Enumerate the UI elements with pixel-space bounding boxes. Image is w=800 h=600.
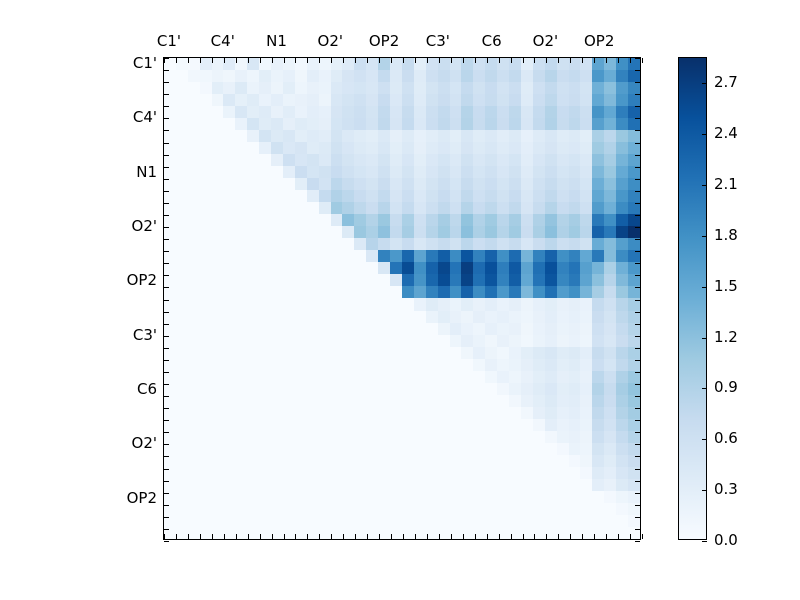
- heatmap-cell: [509, 190, 521, 202]
- heatmap-cell: [438, 479, 450, 491]
- heatmap-cell: [319, 359, 331, 371]
- heatmap-cell: [307, 226, 319, 238]
- heatmap-cell: [378, 323, 390, 335]
- heatmap-cell: [521, 70, 533, 82]
- heatmap-cell: [259, 503, 271, 515]
- heatmap-cell: [366, 190, 378, 202]
- heatmap-cell: [259, 419, 271, 431]
- heatmap-cell: [342, 515, 354, 527]
- heatmap-cell: [628, 190, 640, 202]
- heatmap-cell: [473, 503, 485, 515]
- heatmap-cell: [259, 491, 271, 503]
- y-tick-mark: [635, 360, 640, 361]
- heatmap-cell: [307, 238, 319, 250]
- heatmap-cell: [557, 479, 569, 491]
- y-tick-mark: [164, 493, 169, 494]
- heatmap-cell: [366, 335, 378, 347]
- heatmap-cell: [592, 479, 604, 491]
- heatmap-cell: [223, 455, 235, 467]
- heatmap-cell: [259, 274, 271, 286]
- heatmap-cell: [164, 250, 176, 262]
- heatmap-cell: [426, 82, 438, 94]
- heatmap-cell: [569, 286, 581, 298]
- heatmap-cell: [426, 178, 438, 190]
- heatmap-cell: [604, 323, 616, 335]
- heatmap-cell: [247, 395, 259, 407]
- heatmap-cell: [497, 419, 509, 431]
- heatmap-cell: [390, 467, 402, 479]
- heatmap-cell: [342, 467, 354, 479]
- heatmap-cell: [604, 214, 616, 226]
- heatmap-cell: [402, 118, 414, 130]
- heatmap-cell: [212, 190, 224, 202]
- heatmap-cell: [390, 515, 402, 527]
- heatmap-cell: [342, 359, 354, 371]
- y-tick-mark: [164, 300, 169, 301]
- heatmap-cell: [271, 226, 283, 238]
- heatmap-cell: [616, 455, 628, 467]
- heatmap-cell: [426, 94, 438, 106]
- y-tick-mark: [164, 336, 169, 337]
- heatmap-cell: [497, 274, 509, 286]
- heatmap-cell: [342, 503, 354, 515]
- heatmap-cell: [557, 142, 569, 154]
- heatmap-cell: [521, 154, 533, 166]
- heatmap-cell: [616, 238, 628, 250]
- heatmap-cell: [438, 503, 450, 515]
- heatmap-cell: [378, 335, 390, 347]
- heatmap-cell: [545, 443, 557, 455]
- heatmap-cell: [545, 286, 557, 298]
- heatmap-cell: [545, 178, 557, 190]
- heatmap-cell: [414, 238, 426, 250]
- heatmap-cell: [450, 431, 462, 443]
- heatmap-cell: [450, 118, 462, 130]
- heatmap-cell: [557, 94, 569, 106]
- heatmap-cell: [569, 190, 581, 202]
- heatmap-cell: [616, 274, 628, 286]
- heatmap-cell: [569, 94, 581, 106]
- heatmap-cell: [271, 118, 283, 130]
- heatmap-cell: [354, 142, 366, 154]
- heatmap-cell: [390, 226, 402, 238]
- heatmap-cell: [378, 214, 390, 226]
- heatmap-cell: [473, 298, 485, 310]
- y-tick-mark: [164, 167, 169, 168]
- heatmap-cell: [271, 455, 283, 467]
- heatmap-cell: [426, 407, 438, 419]
- heatmap-cell: [342, 491, 354, 503]
- colorbar-tick-mark: [702, 541, 707, 542]
- heatmap-cell: [235, 166, 247, 178]
- y-tick-label: O2': [132, 217, 157, 235]
- heatmap-cell: [592, 178, 604, 190]
- heatmap-cell: [509, 166, 521, 178]
- heatmap-cell: [426, 130, 438, 142]
- heatmap-cell: [569, 178, 581, 190]
- heatmap-cell: [354, 419, 366, 431]
- heatmap-cell: [259, 166, 271, 178]
- heatmap-cell: [259, 298, 271, 310]
- x-tick-mark: [248, 58, 249, 63]
- heatmap-cell: [247, 515, 259, 527]
- heatmap-cell: [616, 190, 628, 202]
- heatmap-cell: [331, 118, 343, 130]
- x-tick-mark: [224, 534, 225, 539]
- heatmap-cell: [569, 238, 581, 250]
- heatmap-cell: [616, 250, 628, 262]
- heatmap-cell: [628, 94, 640, 106]
- y-tick-mark: [164, 517, 169, 518]
- heatmap-cell: [521, 274, 533, 286]
- heatmap-cell: [295, 311, 307, 323]
- heatmap-cell: [604, 190, 616, 202]
- heatmap-cell: [414, 359, 426, 371]
- heatmap-cell: [331, 431, 343, 443]
- heatmap-cell: [331, 323, 343, 335]
- heatmap-cell: [497, 395, 509, 407]
- heatmap-cell: [235, 142, 247, 154]
- heatmap-cell: [497, 455, 509, 467]
- heatmap-cell: [485, 298, 497, 310]
- x-tick-mark: [295, 58, 296, 63]
- heatmap-cell: [450, 274, 462, 286]
- heatmap-cell: [450, 491, 462, 503]
- y-tick-mark: [635, 336, 640, 337]
- heatmap-cell: [461, 82, 473, 94]
- heatmap-cell: [485, 94, 497, 106]
- heatmap-cell: [569, 82, 581, 94]
- heatmap-cell: [295, 178, 307, 190]
- heatmap-cell: [402, 214, 414, 226]
- heatmap-cell: [557, 214, 569, 226]
- heatmap-cell: [366, 118, 378, 130]
- y-tick-label: OP2: [127, 271, 157, 289]
- heatmap-cell: [521, 82, 533, 94]
- heatmap-cell: [545, 298, 557, 310]
- y-tick-mark: [635, 287, 640, 288]
- heatmap-cell: [533, 431, 545, 443]
- heatmap-cell: [331, 395, 343, 407]
- heatmap-cell: [223, 467, 235, 479]
- heatmap-cell: [509, 118, 521, 130]
- heatmap-cell: [223, 286, 235, 298]
- heatmap-cell: [235, 118, 247, 130]
- heatmap-cell: [557, 503, 569, 515]
- heatmap-cell: [545, 311, 557, 323]
- heatmap-cell: [390, 94, 402, 106]
- heatmap-cell: [592, 298, 604, 310]
- heatmap-cell: [354, 491, 366, 503]
- heatmap-cell: [271, 262, 283, 274]
- heatmap-cell: [426, 515, 438, 527]
- heatmap-cell: [450, 395, 462, 407]
- heatmap-cell: [188, 359, 200, 371]
- heatmap-cell: [378, 70, 390, 82]
- heatmap-cell: [235, 311, 247, 323]
- heatmap-cell: [545, 130, 557, 142]
- x-tick-mark: [415, 58, 416, 63]
- heatmap-cell: [378, 455, 390, 467]
- heatmap-cell: [319, 443, 331, 455]
- heatmap-cell: [212, 94, 224, 106]
- heatmap-cell: [235, 58, 247, 70]
- heatmap-cell: [461, 166, 473, 178]
- heatmap-cell: [461, 479, 473, 491]
- heatmap-cell: [533, 190, 545, 202]
- heatmap-cell: [533, 202, 545, 214]
- heatmap-cell: [426, 467, 438, 479]
- heatmap-cell: [580, 431, 592, 443]
- heatmap-cell: [497, 491, 509, 503]
- heatmap-cell: [473, 491, 485, 503]
- heatmap-cell: [485, 311, 497, 323]
- heatmap-cell: [426, 395, 438, 407]
- heatmap-cell: [497, 238, 509, 250]
- heatmap-cell: [497, 359, 509, 371]
- heatmap-cell: [342, 238, 354, 250]
- heatmap-cell: [450, 323, 462, 335]
- heatmap-cell: [223, 166, 235, 178]
- heatmap-cell: [247, 503, 259, 515]
- x-tick-mark: [463, 534, 464, 539]
- heatmap-cell: [569, 311, 581, 323]
- y-tick-mark: [635, 420, 640, 421]
- heatmap-cell: [223, 419, 235, 431]
- heatmap-cell: [235, 190, 247, 202]
- colorbar-tick-label: 0.3: [714, 480, 738, 498]
- heatmap-cell: [354, 178, 366, 190]
- heatmap-cell: [342, 214, 354, 226]
- heatmap-cell: [461, 178, 473, 190]
- heatmap-cell: [414, 347, 426, 359]
- heatmap-cell: [628, 166, 640, 178]
- x-tick-mark: [260, 58, 261, 63]
- heatmap-cell: [545, 503, 557, 515]
- heatmap-cell: [414, 190, 426, 202]
- heatmap-cell: [176, 106, 188, 118]
- heatmap-cell: [580, 335, 592, 347]
- heatmap-cell: [354, 238, 366, 250]
- heatmap-cell: [247, 479, 259, 491]
- heatmap-cell: [378, 202, 390, 214]
- heatmap-cell: [212, 419, 224, 431]
- heatmap-cell: [545, 82, 557, 94]
- heatmap-cell: [200, 371, 212, 383]
- heatmap-cell: [521, 166, 533, 178]
- heatmap-cell: [331, 250, 343, 262]
- heatmap-cell: [200, 311, 212, 323]
- heatmap-cell: [331, 359, 343, 371]
- heatmap-cell: [616, 491, 628, 503]
- heatmap-cell: [473, 70, 485, 82]
- heatmap-cell: [616, 347, 628, 359]
- heatmap-cell: [342, 383, 354, 395]
- heatmap-cell: [402, 274, 414, 286]
- y-tick-mark: [164, 287, 169, 288]
- heatmap-cell: [414, 467, 426, 479]
- heatmap-cell: [497, 298, 509, 310]
- heatmap-cell: [592, 395, 604, 407]
- x-tick-mark: [570, 58, 571, 63]
- heatmap-cell: [569, 335, 581, 347]
- heatmap-cell: [235, 286, 247, 298]
- heatmap-cell: [592, 154, 604, 166]
- heatmap-cell: [533, 323, 545, 335]
- heatmap-cell: [473, 479, 485, 491]
- heatmap-cell: [414, 407, 426, 419]
- heatmap-cell: [450, 106, 462, 118]
- x-tick-mark: [630, 58, 631, 63]
- heatmap-cell: [604, 238, 616, 250]
- heatmap-cell: [592, 323, 604, 335]
- x-tick-mark: [618, 58, 619, 63]
- heatmap-cell: [212, 238, 224, 250]
- heatmap-cell: [426, 166, 438, 178]
- heatmap-cell: [402, 166, 414, 178]
- heatmap-cell: [569, 479, 581, 491]
- heatmap-cell: [390, 431, 402, 443]
- heatmap-cell: [342, 154, 354, 166]
- heatmap-cell: [604, 274, 616, 286]
- heatmap-cell: [473, 407, 485, 419]
- heatmap-cell: [235, 443, 247, 455]
- heatmap-cell: [247, 371, 259, 383]
- heatmap-cell: [592, 335, 604, 347]
- heatmap-cell: [604, 262, 616, 274]
- heatmap-cell: [473, 419, 485, 431]
- heatmap-cell: [569, 130, 581, 142]
- heatmap-cell: [545, 467, 557, 479]
- heatmap-cell: [366, 479, 378, 491]
- heatmap-cell: [295, 202, 307, 214]
- heatmap-cell: [319, 238, 331, 250]
- heatmap-cell: [592, 82, 604, 94]
- heatmap-cell: [461, 94, 473, 106]
- heatmap-cell: [497, 70, 509, 82]
- y-tick-mark: [164, 348, 169, 349]
- heatmap-cell: [592, 70, 604, 82]
- y-tick-mark: [635, 58, 640, 59]
- heatmap-cell: [557, 82, 569, 94]
- heatmap-cell: [390, 130, 402, 142]
- heatmap-cell: [331, 178, 343, 190]
- heatmap-cell: [450, 443, 462, 455]
- heatmap-cell: [295, 371, 307, 383]
- heatmap-cell: [616, 94, 628, 106]
- heatmap-cell: [295, 347, 307, 359]
- heatmap-cell: [247, 226, 259, 238]
- heatmap-cell: [366, 166, 378, 178]
- heatmap-cell: [485, 323, 497, 335]
- heatmap-cell: [592, 311, 604, 323]
- heatmap-cell: [390, 419, 402, 431]
- heatmap-cell: [354, 190, 366, 202]
- heatmap-cell: [247, 274, 259, 286]
- heatmap-cell: [461, 359, 473, 371]
- heatmap-cell: [438, 214, 450, 226]
- heatmap-cell: [521, 407, 533, 419]
- heatmap-cell: [461, 407, 473, 419]
- heatmap-cell: [200, 455, 212, 467]
- heatmap-cell: [188, 395, 200, 407]
- heatmap-cell: [497, 202, 509, 214]
- heatmap-cell: [450, 311, 462, 323]
- heatmap-cell: [569, 467, 581, 479]
- heatmap-cell: [378, 443, 390, 455]
- heatmap-cell: [378, 274, 390, 286]
- heatmap-cell: [450, 335, 462, 347]
- heatmap-cell: [616, 479, 628, 491]
- heatmap-cell: [545, 238, 557, 250]
- heatmap-cell: [283, 190, 295, 202]
- heatmap-cell: [473, 106, 485, 118]
- heatmap-cell: [580, 166, 592, 178]
- heatmap-cell: [176, 166, 188, 178]
- heatmap-cell: [521, 238, 533, 250]
- heatmap-cell: [354, 154, 366, 166]
- heatmap-cell: [259, 311, 271, 323]
- heatmap-cell: [354, 250, 366, 262]
- heatmap-cell: [450, 359, 462, 371]
- heatmap-cell: [450, 371, 462, 383]
- heatmap-cell: [450, 503, 462, 515]
- colorbar-tick-label: 0.6: [714, 429, 738, 447]
- heatmap-cell: [283, 82, 295, 94]
- heatmap-cell: [235, 527, 247, 539]
- heatmap-cell: [426, 311, 438, 323]
- x-tick-mark: [523, 534, 524, 539]
- heatmap-cell: [283, 262, 295, 274]
- heatmap-cell: [557, 238, 569, 250]
- heatmap-cell: [604, 407, 616, 419]
- heatmap-cell: [616, 335, 628, 347]
- heatmap-cell: [473, 214, 485, 226]
- heatmap-cell: [283, 335, 295, 347]
- heatmap-cell: [212, 335, 224, 347]
- heatmap-cell: [461, 130, 473, 142]
- heatmap-cell: [545, 383, 557, 395]
- heatmap-cell: [438, 274, 450, 286]
- heatmap-cell: [509, 250, 521, 262]
- y-tick-mark: [164, 94, 169, 95]
- heatmap-cell: [545, 166, 557, 178]
- y-tick-label: OP2: [127, 489, 157, 507]
- colorbar-tick-label: 0.9: [714, 378, 738, 396]
- heatmap-cell: [390, 311, 402, 323]
- heatmap-cell: [521, 455, 533, 467]
- heatmap-cell: [592, 359, 604, 371]
- heatmap-cell: [414, 515, 426, 527]
- heatmap-cell: [247, 214, 259, 226]
- heatmap-cell: [557, 359, 569, 371]
- heatmap-cell: [354, 515, 366, 527]
- heatmap-cell: [247, 527, 259, 539]
- heatmap-cell: [354, 323, 366, 335]
- heatmap-cell: [283, 202, 295, 214]
- heatmap-cell: [259, 142, 271, 154]
- heatmap-cell: [604, 431, 616, 443]
- x-tick-mark: [499, 534, 500, 539]
- heatmap-cell: [628, 70, 640, 82]
- heatmap-cell: [212, 274, 224, 286]
- heatmap-cell: [390, 335, 402, 347]
- heatmap-cell: [307, 286, 319, 298]
- heatmap-cell: [283, 214, 295, 226]
- heatmap-cell: [414, 503, 426, 515]
- heatmap-cell: [533, 491, 545, 503]
- heatmap-cell: [378, 154, 390, 166]
